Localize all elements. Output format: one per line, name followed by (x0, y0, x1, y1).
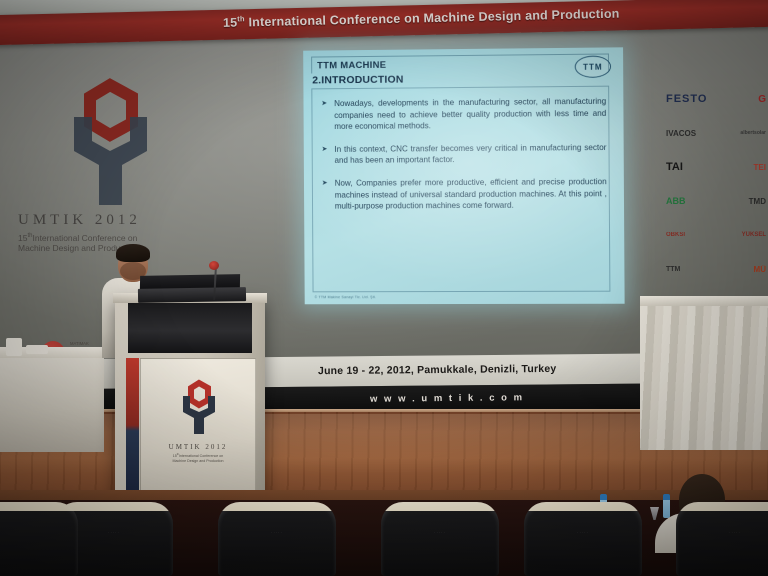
sponsor-row: ABB TMD (666, 184, 766, 218)
slide-bullet-item: Nowadays, developments in the manufactur… (321, 96, 606, 133)
auditorium-chair: ····· (381, 502, 499, 576)
podium-upper-recess (128, 303, 252, 353)
photo-scene: 15th International Conference on Machine… (0, 0, 768, 576)
side-curtain (640, 300, 768, 450)
sponsor-row: OBKSI YÜKSEL (666, 218, 766, 252)
conference-website-url: w w w . u m t i k . c o m (370, 392, 524, 404)
sponsor-logo: MÜ (754, 265, 766, 274)
sponsor-logo: ABB (666, 196, 686, 206)
auditorium-chair: ····· (524, 502, 642, 576)
sponsor-logo: TEI (754, 163, 766, 172)
laptop-base (138, 287, 246, 303)
chair-embroidery: ····· (271, 530, 283, 535)
podium-color-stripe (126, 358, 139, 498)
water-bottle (663, 494, 670, 518)
sponsor-logo: TTM (666, 266, 680, 273)
sponsor-logo: FESTO (666, 93, 707, 105)
sponsor-row: TAI TEI (666, 150, 766, 184)
table-paper-item (6, 338, 22, 356)
sponsor-row: TTM MÜ (666, 252, 766, 286)
podium-logo-line2: Machine Design and Production (173, 459, 224, 463)
wall-logo-line1: International Conference on (32, 233, 137, 243)
sponsor-row: FESTO G (666, 82, 766, 116)
sponsor-logo: OBKSI (666, 232, 685, 238)
chair-embroidery: ····· (577, 530, 589, 535)
table-paper-item (26, 345, 48, 354)
slide-section-title: 2.INTRODUCTION (312, 74, 403, 87)
wall-logo-subtitle: 15thInternational Conference on Machine … (18, 231, 203, 254)
sponsor-logo: TAI (666, 161, 683, 173)
banner-ordinal-suffix: th (237, 14, 245, 23)
auditorium-chair (0, 502, 78, 576)
banner-ordinal: 15 (223, 16, 238, 30)
slide-bullet-item: In this context, CNC transfer becomes ve… (322, 142, 607, 167)
sponsor-logo: IVACOS (666, 129, 696, 138)
sponsor-logo: TMD (749, 197, 766, 206)
ttm-logo-icon: TTM (575, 55, 611, 77)
slide-bullet-item: Now, Companies prefer more productive, e… (322, 176, 607, 212)
umtik-wall-logo-icon (52, 55, 170, 205)
curtain-rail (640, 296, 768, 306)
sponsor-logo: YÜKSEL (742, 232, 766, 238)
sponsor-logo: albertsolar (740, 130, 766, 136)
podium-umtik-logo-icon (175, 372, 223, 434)
podium-logo-subtitle: 15thInternational Conference on Machine … (152, 453, 244, 464)
side-table-skirt (0, 347, 104, 452)
microphone-head-icon (209, 261, 219, 270)
slide-header-title: TTM MACHINE (317, 60, 386, 72)
conference-date-location: June 19 - 22, 2012, Pamukkale, Denizli, … (318, 363, 556, 377)
wall-logo-title: UMTIK 2012 (18, 212, 208, 229)
podium-logo-title: UMTIK 2012 (152, 443, 244, 451)
sponsor-row: IVACOS albertsolar (666, 116, 766, 150)
chair-embroidery: ····· (729, 530, 741, 535)
podium-logo-line1: International Conference on (179, 454, 223, 458)
booth-line1: MATIMAK (70, 341, 89, 346)
banner-title: International Conference on Machine Desi… (248, 7, 619, 30)
speaker-hair (116, 244, 150, 262)
chair-embroidery: ····· (108, 530, 120, 535)
sponsor-logo-wall: FESTO G IVACOS albertsolar TAI TEI ABB T… (666, 82, 766, 282)
chair-embroidery: ····· (434, 530, 446, 535)
auditorium-chair: ····· (676, 502, 768, 576)
sponsor-logo: G (758, 94, 766, 105)
auditorium-chair: ····· (218, 502, 336, 576)
slide-footer-copyright: © TTM Makine Sanayi Tic. Ltd. Şti. (315, 295, 377, 299)
projected-slide: TTM MACHINE 2.INTRODUCTION TTM Nowadays,… (303, 47, 624, 304)
slide-bullet-list: Nowadays, developments in the manufactur… (321, 96, 607, 224)
